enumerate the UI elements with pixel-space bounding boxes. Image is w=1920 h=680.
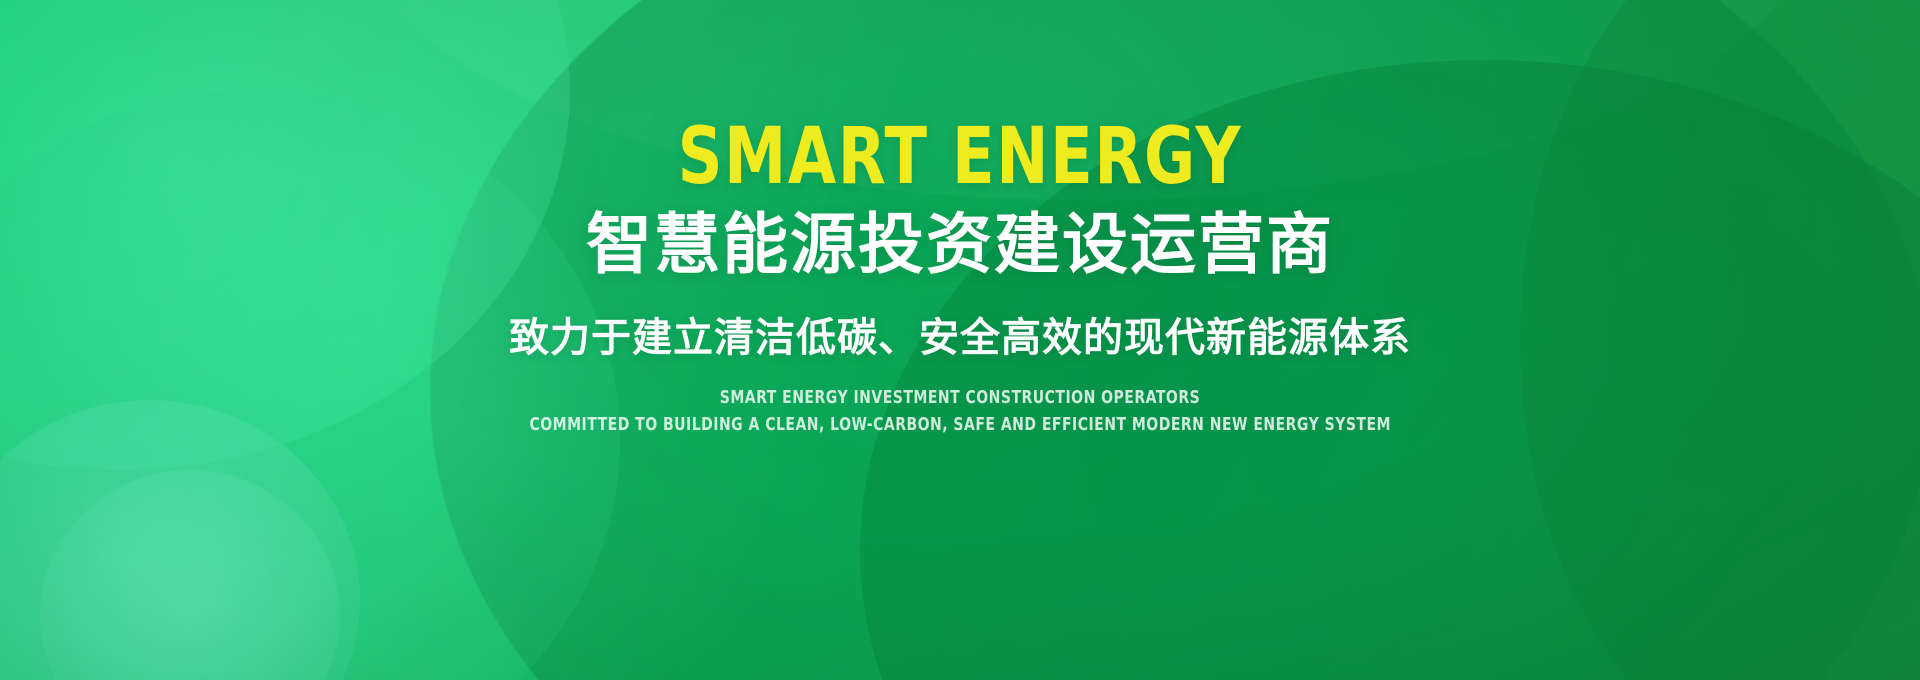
headline-chinese: 智慧能源投资建设运营商 xyxy=(586,210,1334,280)
hero-banner: SMART ENERGY 智慧能源投资建设运营商 致力于建立清洁低碳、安全高效的… xyxy=(0,0,1920,680)
subheadline-chinese: 致力于建立清洁低碳、安全高效的现代新能源体系 xyxy=(509,314,1411,362)
tagline-english-secondary: COMMITTED TO BUILDING A CLEAN, LOW-CARBO… xyxy=(529,415,1390,435)
headline-english: SMART ENERGY xyxy=(678,118,1243,196)
banner-content: SMART ENERGY 智慧能源投资建设运营商 致力于建立清洁低碳、安全高效的… xyxy=(0,0,1920,680)
tagline-english-primary: SMART ENERGY INVESTMENT CONSTRUCTION OPE… xyxy=(720,388,1200,408)
tagline-group: SMART ENERGY INVESTMENT CONSTRUCTION OPE… xyxy=(408,388,1512,435)
